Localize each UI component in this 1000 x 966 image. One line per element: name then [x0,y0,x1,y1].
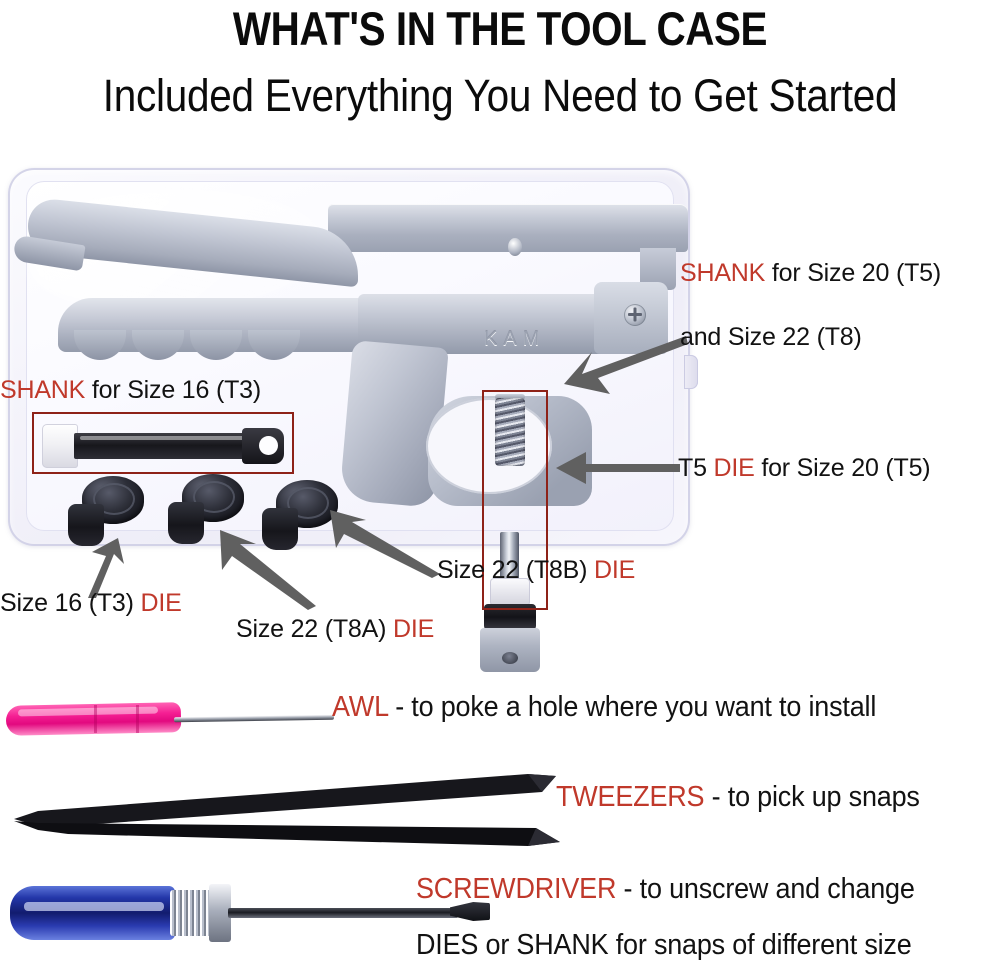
label-shank-t5-t8-line2: and Size 22 (T8) [680,322,862,353]
pliers-grip-nub [248,330,300,360]
label-shank-t3-highlight: SHANK [0,376,85,404]
label-die-t5-prefix: T5 [678,454,714,482]
pliers-grip-nub [74,330,126,360]
awl-ring [94,705,97,733]
label-die-t5-rest: for Size 20 (T5) [755,454,931,482]
arrow-to-die-t8b [322,508,442,578]
label-die-t8a: Size 22 (T8A) DIE [236,614,434,645]
pliers-pivot-screw-icon [624,304,646,326]
label-die-t8a-prefix: Size 22 (T8A) [236,615,393,643]
label-die-t5-highlight: DIE [714,454,755,482]
tweezers-tool-image [8,772,568,850]
label-die-t3: Size 16 (T3) DIE [0,588,182,619]
label-shank-t5-t8-highlight: SHANK [680,259,765,287]
label-screwdriver-line1: SCREWDRIVER - to unscrew and change [416,872,915,906]
page-subtitle: Included Everything You Need to Get Star… [50,70,950,122]
die-stem [168,502,204,544]
label-die-t8b-prefix: Size 22 (T8B) [437,556,594,584]
label-shank-t5-t8-rest: for Size 20 (T5) [765,259,941,287]
shank-t3-rod-highlight [80,436,246,440]
label-shank-t3-rest: for Size 16 (T3) [85,376,261,404]
label-awl-rest: - to poke a hole where you want to insta… [388,691,876,723]
pliers-die-base [480,628,540,672]
screwdriver-handle [10,886,175,940]
label-die-t8b-highlight: DIE [594,556,635,584]
screwdriver-handle-gloss [24,902,164,911]
label-die-t3-highlight: DIE [141,589,182,617]
label-screwdriver-line2: DIES or SHANK for snaps of different siz… [416,928,912,962]
awl-needle [174,715,334,723]
arrow-to-t5-die [552,450,682,486]
awl-tool-image [6,698,336,742]
arrow-to-die-t8a [212,528,322,608]
label-shank-t3: SHANK for Size 16 (T3) [0,375,261,406]
page-title: WHAT'S IN THE TOOL CASE [70,2,930,56]
label-die-t5: T5 DIE for Size 20 (T5) [678,453,930,484]
pliers-grip-nub [190,330,242,360]
pliers-grip-nub [132,330,184,360]
pliers-die-base-hole [502,652,518,664]
label-tweezers: TWEEZERS - to pick up snaps [556,780,920,814]
label-die-t3-prefix: Size 16 (T3) [0,589,141,617]
label-tweezers-highlight: TWEEZERS [556,781,704,813]
pliers-upper-curve [28,197,358,288]
pliers-upper-handle [28,198,688,288]
label-shank-t5-t8-line1: SHANK for Size 20 (T5) [680,258,941,289]
label-tweezers-rest: - to pick up snaps [704,781,919,813]
label-awl: AWL - to poke a hole where you want to i… [332,690,876,724]
awl-ring [136,705,139,733]
pliers-top-pin [508,238,522,256]
shank-t3-eyelet-hole [259,436,278,455]
shank-t3-white-cap [42,424,78,468]
label-die-t8a-highlight: DIE [393,615,434,643]
label-screwdriver-rest: - to unscrew and change [616,873,914,905]
label-screwdriver-highlight: SCREWDRIVER [416,873,616,905]
arrow-to-shank-t5-t8 [548,330,688,410]
label-awl-highlight: AWL [332,691,388,723]
brand-mark-kam: KAM [484,328,545,351]
label-die-t8b: Size 22 (T8B) DIE [437,555,635,586]
screwdriver-shaft [228,908,458,918]
